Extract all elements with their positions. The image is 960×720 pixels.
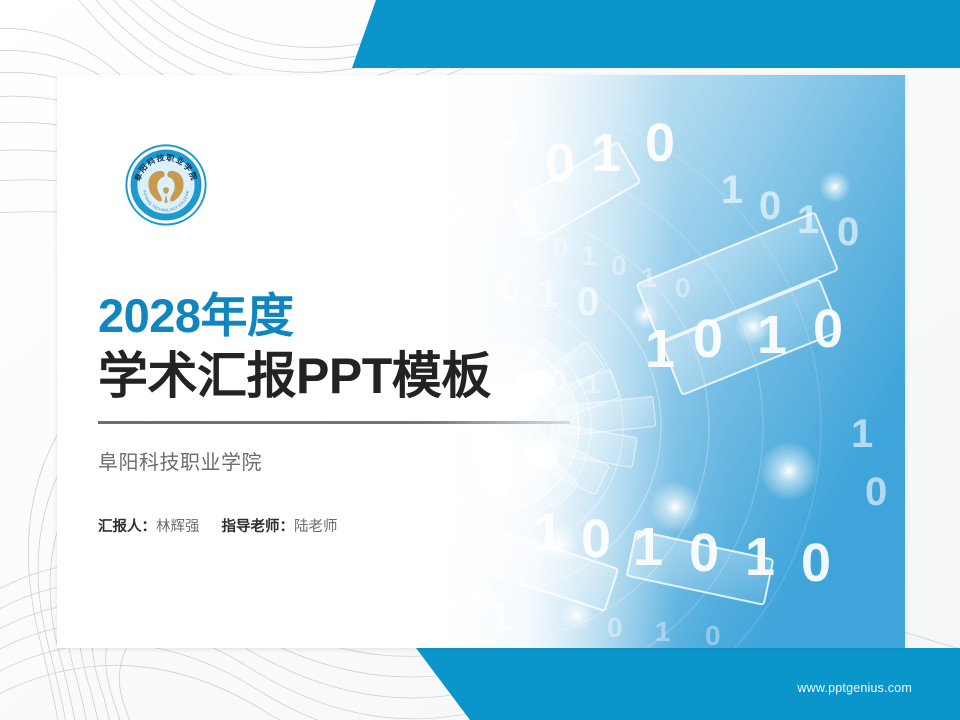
svg-text:0: 0 [837, 210, 859, 254]
svg-text:1: 1 [721, 168, 743, 212]
svg-text:1: 1 [745, 527, 775, 587]
svg-text:0: 0 [611, 250, 627, 281]
svg-text:0: 0 [607, 612, 623, 643]
svg-text:1: 1 [851, 412, 873, 456]
svg-text:0: 0 [705, 620, 721, 648]
svg-text:0: 0 [813, 299, 843, 359]
svg-text:0: 0 [801, 533, 831, 593]
svg-text:1: 1 [447, 186, 469, 230]
organization-name: 阜阳科技职业学院 [98, 446, 618, 475]
svg-text:0: 0 [645, 113, 675, 173]
advisor-name: 陆老师 [294, 519, 338, 535]
title-year: 2028年度 [98, 292, 618, 341]
svg-text:1: 1 [581, 240, 597, 271]
university-logo-icon: 阜阳科技职业学院 FUYANG TECHNOLOGY COLLEGE [122, 141, 210, 229]
svg-text:1: 1 [521, 200, 543, 244]
svg-text:1: 1 [591, 123, 621, 183]
presenter-line: 汇报人：林辉强指导老师：陆老师 [98, 515, 618, 536]
svg-text:0: 0 [693, 309, 723, 369]
svg-text:1: 1 [641, 262, 657, 293]
svg-text:0: 0 [497, 110, 519, 154]
reporter-label: 汇报人： [98, 519, 156, 535]
footer-website-url[interactable]: www.pptgenius.com [797, 681, 912, 695]
svg-text:0: 0 [553, 232, 569, 263]
svg-text:1: 1 [465, 102, 487, 146]
svg-text:1: 1 [797, 198, 819, 242]
svg-text:1: 1 [655, 616, 671, 647]
top-accent-band [330, 0, 960, 68]
svg-text:0: 0 [759, 184, 781, 228]
svg-text:0: 0 [545, 133, 575, 193]
svg-text:0: 0 [675, 272, 691, 303]
svg-text:0: 0 [409, 196, 431, 240]
advisor-label: 指导老师： [222, 519, 295, 535]
svg-text:0: 0 [865, 470, 887, 514]
svg-text:0: 0 [485, 180, 507, 224]
reporter-name: 林辉强 [156, 519, 200, 535]
title-text-block: 2028年度 学术汇报PPT模板 阜阳科技职业学院 汇报人：林辉强指导老师：陆老… [98, 292, 618, 536]
svg-text:0: 0 [353, 578, 375, 622]
slide-canvas: www.pptgenius.com [0, 0, 960, 720]
title-divider-rule [98, 421, 570, 424]
svg-text:0: 0 [689, 523, 719, 583]
title-main: 学术汇报PPT模板 [98, 349, 618, 403]
svg-text:1: 1 [397, 586, 419, 630]
